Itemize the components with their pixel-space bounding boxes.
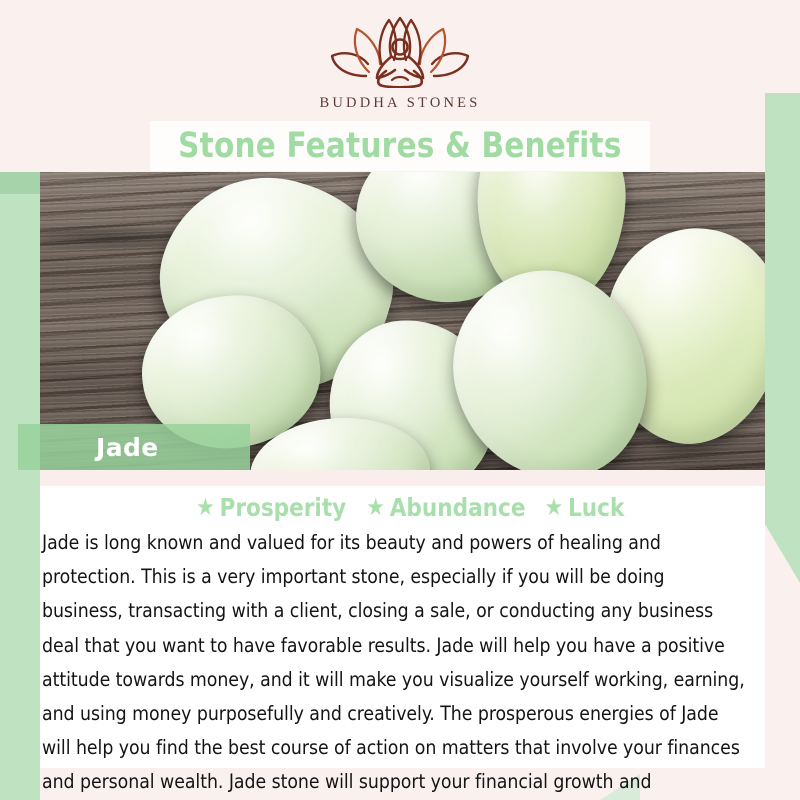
content-panel: ★ Prosperity ★ Abundance ★ Luck Jade is …	[40, 486, 765, 768]
benefit-item: ★ Abundance	[367, 493, 526, 522]
star-icon: ★	[367, 495, 386, 519]
brand-logo: BUDDHA STONES	[0, 14, 800, 112]
stone-name-badge: Jade	[18, 424, 250, 470]
benefit-item: ★ Luck	[545, 493, 625, 522]
benefit-label: Prosperity	[219, 493, 346, 522]
decorative-bar-right	[765, 93, 800, 583]
benefit-item: ★ Prosperity	[196, 493, 346, 522]
brand-name: BUDDHA STONES	[320, 95, 481, 112]
benefit-label: Luck	[568, 493, 624, 522]
stone-description: Jade is long known and valued for its be…	[42, 526, 752, 800]
page-title: Stone Features & Benefits	[178, 126, 621, 166]
lotus-meditation-icon	[325, 14, 475, 88]
product-info-card: BUDDHA STONES Stone Features & Benefits …	[0, 0, 800, 800]
divider-strip	[40, 470, 765, 486]
stone-name-label: Jade	[96, 433, 159, 462]
star-icon: ★	[196, 495, 215, 519]
title-banner: Stone Features & Benefits	[150, 121, 650, 171]
decorative-bar-left	[0, 172, 40, 800]
benefits-list: ★ Prosperity ★ Abundance ★ Luck	[56, 490, 763, 524]
benefit-label: Abundance	[390, 493, 526, 522]
star-icon: ★	[545, 495, 564, 519]
decorative-bar-left-notch	[0, 172, 40, 194]
